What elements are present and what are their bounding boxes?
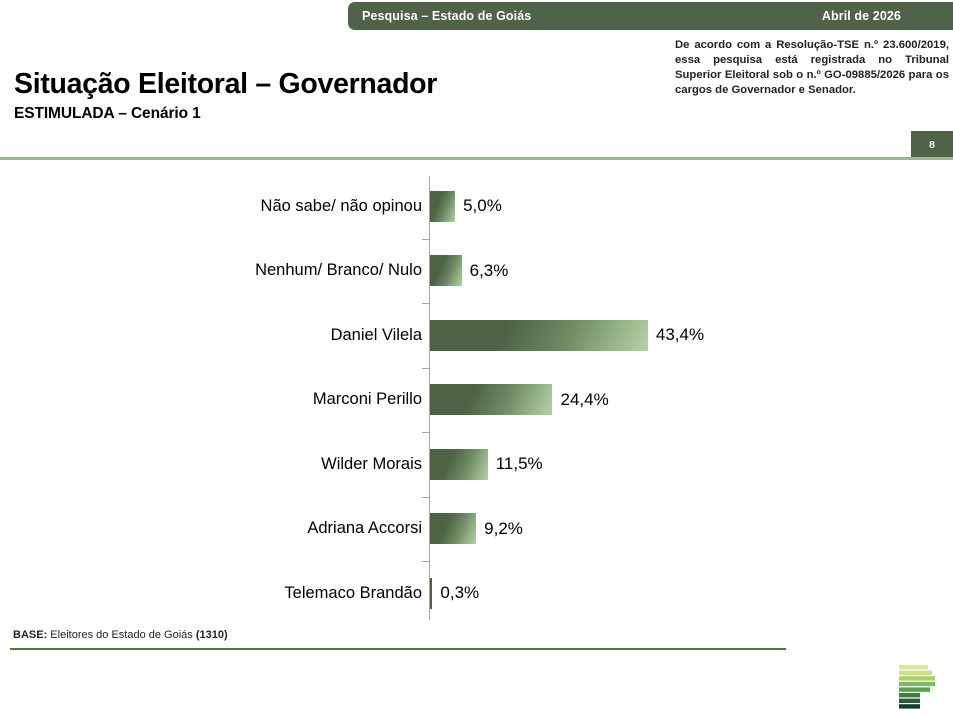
bar-and-value: 9,2% [430, 497, 523, 562]
bar-value-label: 9,2% [484, 519, 523, 539]
base-description: Eleitores do Estado de Goiás [50, 629, 192, 641]
bar-row: Marconi Perillo24,4% [0, 368, 953, 433]
bar [430, 449, 488, 480]
bar-category-label: Marconi Perillo [22, 390, 422, 409]
paranapesquisa-logo [893, 664, 943, 711]
logo-bar [899, 704, 920, 708]
base-note: BASE: Eleitores do Estado de Goiás (1310… [13, 629, 228, 641]
bar-and-value: 11,5% [430, 432, 543, 497]
bar-and-value: 6,3% [430, 239, 508, 304]
bar-category-label: Wilder Morais [22, 455, 422, 474]
base-label: BASE: [13, 629, 47, 641]
base-count: (1310) [196, 629, 228, 641]
bar [430, 255, 462, 286]
bar-value-label: 5,0% [463, 196, 502, 216]
logo-bar [899, 671, 932, 675]
bar-value-label: 43,4% [656, 325, 704, 345]
logo-bars-icon [893, 664, 943, 711]
page-number-badge: 8 [911, 131, 953, 159]
slide-canvas: Pesquisa – Estado de Goiás Abril de 2026… [0, 0, 953, 718]
page-title: Situação Eleitoral – Governador [14, 70, 437, 100]
bar [430, 513, 476, 544]
title-block: Situação Eleitoral – Governador ESTIMULA… [14, 70, 437, 123]
bar-category-label: Daniel Vilela [22, 326, 422, 345]
header-survey-title: Pesquisa – Estado de Goiás [362, 9, 531, 23]
footer-divider [10, 648, 786, 650]
bar-row: Wilder Morais11,5% [0, 432, 953, 497]
logo-bar [899, 699, 920, 703]
bar-category-label: Adriana Accorsi [22, 519, 422, 538]
bar [430, 578, 432, 609]
bar-value-label: 24,4% [560, 390, 608, 410]
bar-category-label: Não sabe/ não opinou [22, 197, 422, 216]
bar-and-value: 5,0% [430, 174, 502, 239]
bar [430, 320, 648, 351]
logo-bar [899, 682, 935, 686]
legal-registration-text: De acordo com a Resolução-TSE n.º 23.600… [675, 38, 953, 98]
bar-value-label: 0,3% [440, 583, 479, 603]
header-banner: Pesquisa – Estado de Goiás Abril de 2026 [348, 2, 953, 30]
bar-category-label: Telemaco Brandão [22, 584, 422, 603]
logo-bar [899, 687, 930, 691]
bar [430, 384, 552, 415]
logo-bar [899, 693, 920, 697]
bar-row: Não sabe/ não opinou5,0% [0, 174, 953, 239]
bar [430, 191, 455, 222]
bar-row: Telemaco Brandão0,3% [0, 561, 953, 626]
bar-value-label: 6,3% [470, 261, 509, 281]
bar-value-label: 11,5% [496, 454, 543, 474]
bar-and-value: 43,4% [430, 303, 704, 368]
bar-rows-container: Não sabe/ não opinou5,0%Nenhum/ Branco/ … [0, 168, 953, 620]
bar-chart: Não sabe/ não opinou5,0%Nenhum/ Branco/ … [0, 168, 953, 620]
bar-row: Daniel Vilela43,4% [0, 303, 953, 368]
bar-category-label: Nenhum/ Branco/ Nulo [22, 261, 422, 280]
bar-row: Adriana Accorsi9,2% [0, 497, 953, 562]
logo-bar [899, 665, 928, 669]
bar-row: Nenhum/ Branco/ Nulo6,3% [0, 239, 953, 304]
bar-and-value: 24,4% [430, 368, 609, 433]
bar-and-value: 0,3% [430, 561, 479, 626]
header-date: Abril de 2026 [822, 9, 901, 23]
logo-bar [899, 676, 935, 680]
page-subtitle: ESTIMULADA – Cenário 1 [14, 105, 437, 123]
header-divider [0, 157, 953, 160]
